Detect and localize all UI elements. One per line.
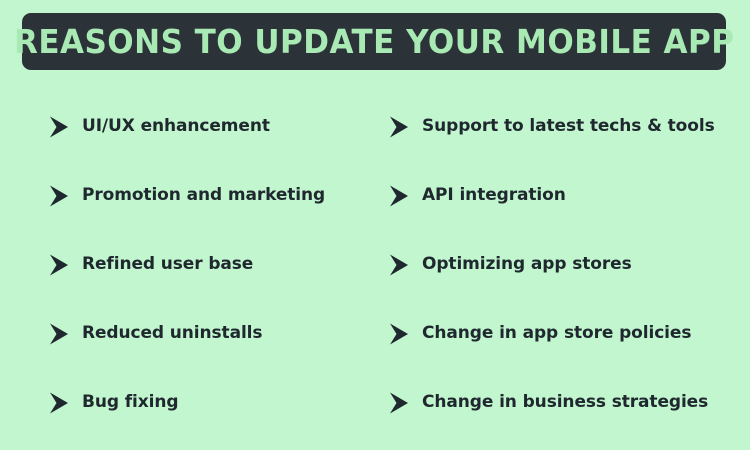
list-item: UI/UX enhancement — [48, 92, 366, 161]
chevron-right-icon — [48, 322, 70, 346]
left-column-list: UI/UX enhancement Promotion and marketin… — [48, 92, 366, 437]
chevron-right-icon — [48, 115, 70, 139]
list-item: Change in business strategies — [388, 368, 750, 437]
infographic-root: REASONS TO UPDATE YOUR MOBILE APP UI/UX … — [0, 0, 750, 450]
list-item: Promotion and marketing — [48, 161, 366, 230]
chevron-right-icon — [48, 184, 70, 208]
chevron-right-icon — [388, 391, 410, 415]
chevron-right-icon — [48, 391, 70, 415]
reasons-columns: UI/UX enhancement Promotion and marketin… — [0, 92, 750, 422]
list-item-label: UI/UX enhancement — [82, 117, 270, 136]
list-item-label: API integration — [422, 186, 566, 205]
chevron-right-icon — [388, 184, 410, 208]
list-item: Reduced uninstalls — [48, 299, 366, 368]
list-item-label: Reduced uninstalls — [82, 324, 262, 343]
list-item: Optimizing app stores — [388, 230, 750, 299]
list-item: Support to latest techs & tools — [388, 92, 750, 161]
list-item: Refined user base — [48, 230, 366, 299]
list-item-label: Change in app store policies — [422, 324, 691, 343]
left-column: UI/UX enhancement Promotion and marketin… — [0, 92, 366, 422]
list-item: Change in app store policies — [388, 299, 750, 368]
list-item: Bug fixing — [48, 368, 366, 437]
chevron-right-icon — [388, 322, 410, 346]
list-item-label: Bug fixing — [82, 393, 178, 412]
list-item-label: Promotion and marketing — [82, 186, 325, 205]
chevron-right-icon — [388, 253, 410, 277]
page-title: REASONS TO UPDATE YOUR MOBILE APP — [14, 25, 734, 58]
chevron-right-icon — [48, 253, 70, 277]
list-item-label: Refined user base — [82, 255, 253, 274]
list-item-label: Support to latest techs & tools — [422, 117, 715, 136]
list-item: API integration — [388, 161, 750, 230]
chevron-right-icon — [388, 115, 410, 139]
title-banner: REASONS TO UPDATE YOUR MOBILE APP — [22, 13, 726, 70]
list-item-label: Optimizing app stores — [422, 255, 632, 274]
list-item-label: Change in business strategies — [422, 393, 708, 412]
right-column: Support to latest techs & tools API inte… — [366, 92, 750, 422]
right-column-list: Support to latest techs & tools API inte… — [388, 92, 750, 437]
